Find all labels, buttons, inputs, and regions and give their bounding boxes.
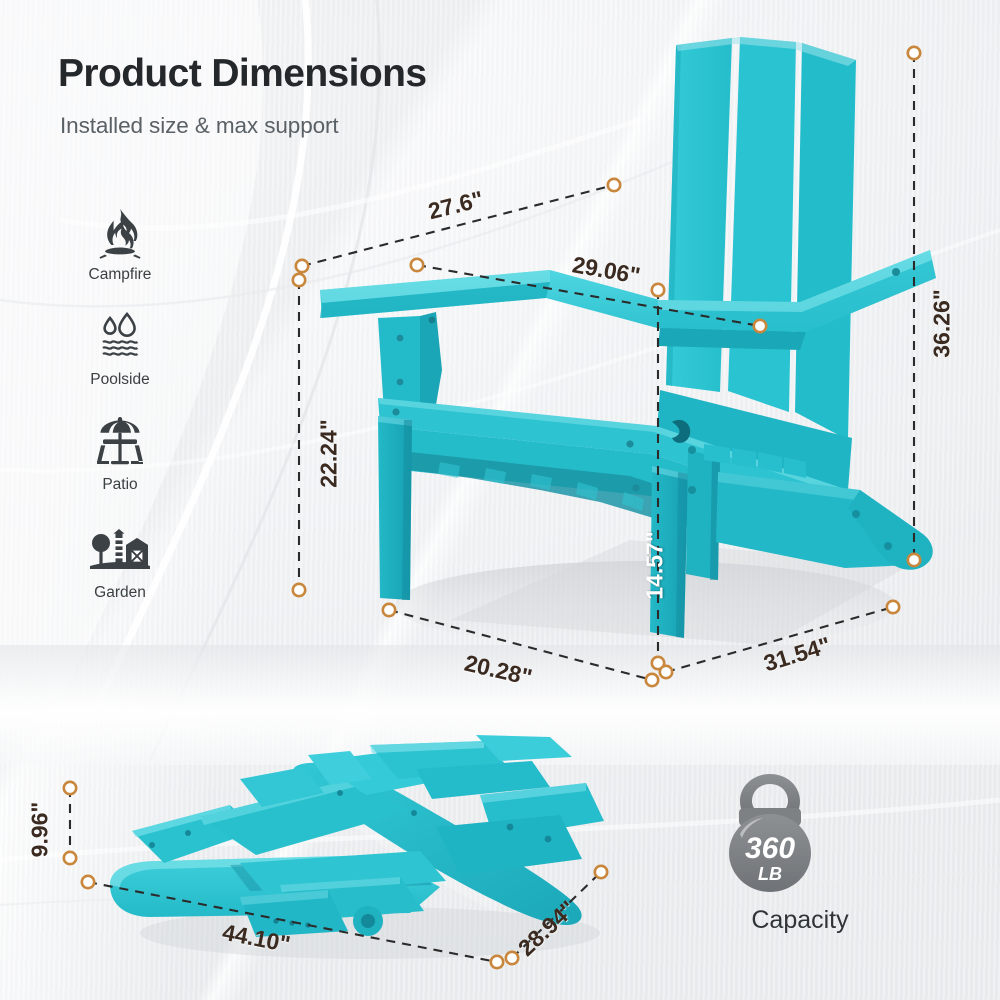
assembled-chair-illustration [300, 20, 950, 680]
feature-patio: Patio [60, 415, 180, 494]
garden-barn-icon [60, 523, 180, 577]
feature-campfire: Campfire [60, 205, 180, 284]
feature-label: Patio [60, 476, 180, 494]
chair-left-armrest [320, 270, 678, 416]
capacity-label: Capacity [700, 906, 900, 935]
feature-label: Campfire [60, 266, 180, 284]
feature-label: Garden [60, 584, 180, 602]
feature-poolside: Poolside [60, 310, 180, 389]
patio-umbrella-table-icon [60, 415, 180, 469]
capacity-badge: 360 LB Capacity [700, 770, 900, 935]
chair-back-slats [666, 37, 856, 440]
feature-label: Poolside [60, 371, 180, 389]
dimension-label-total-height: 36.26" [929, 289, 956, 357]
capacity-unit: LB [758, 864, 782, 884]
kettlebell-icon: 360 LB [700, 770, 840, 900]
infographic-canvas: Product Dimensions Installed size & max … [0, 0, 1000, 1000]
dimension-label-folded-height: 9.96" [26, 802, 53, 858]
dimension-label-seat-height: 14.57" [642, 531, 669, 599]
page-subtitle: Installed size & max support [60, 113, 339, 139]
dimension-label-arm-height: 22.24" [316, 419, 343, 487]
capacity-weight: 360 [745, 832, 795, 865]
chair-front-left-leg [378, 416, 412, 600]
feature-garden: Garden [60, 523, 180, 602]
campfire-icon [60, 205, 180, 259]
water-drops-icon [60, 310, 180, 364]
